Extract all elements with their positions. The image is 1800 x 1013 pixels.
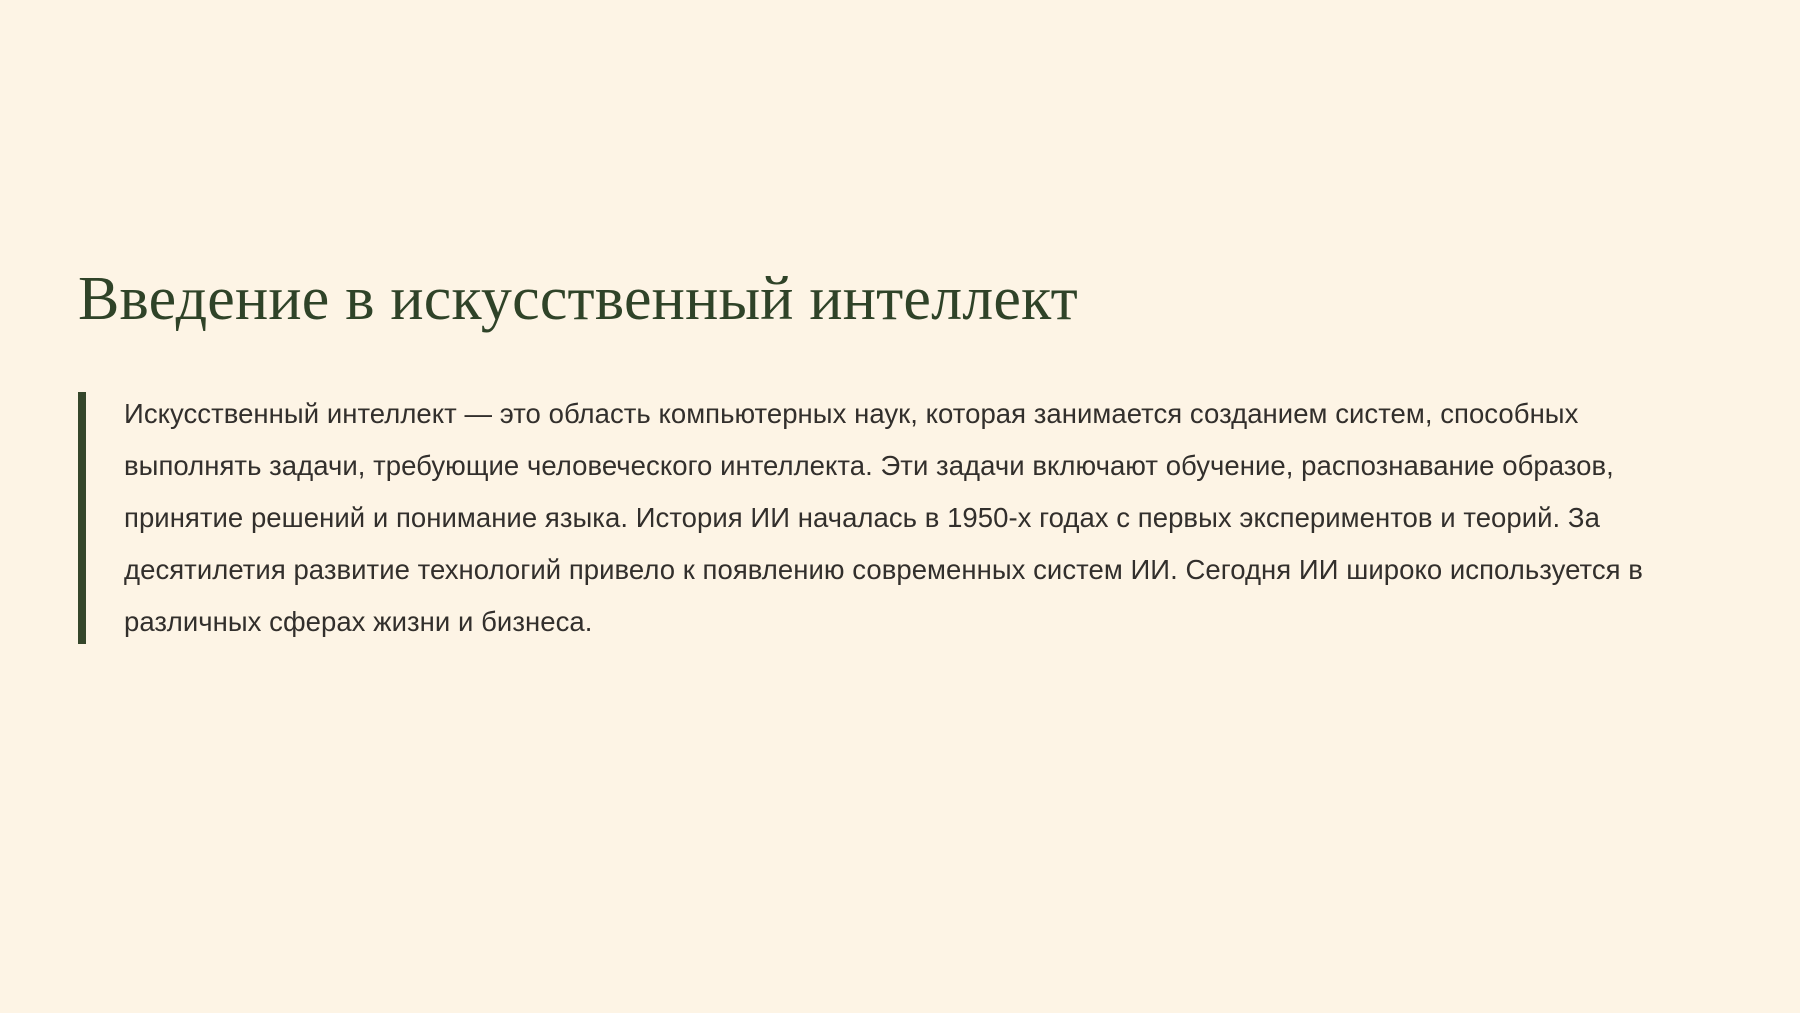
slide-canvas: Введение в искусственный интеллект Искус…	[0, 0, 1800, 1013]
accent-bar	[78, 392, 86, 644]
slide-content: Введение в искусственный интеллект Искус…	[78, 265, 1718, 648]
page-title: Введение в искусственный интеллект	[78, 265, 1718, 334]
body-paragraph: Искусственный интеллект — это область ко…	[124, 388, 1718, 648]
body-callout: Искусственный интеллект — это область ко…	[78, 388, 1718, 648]
